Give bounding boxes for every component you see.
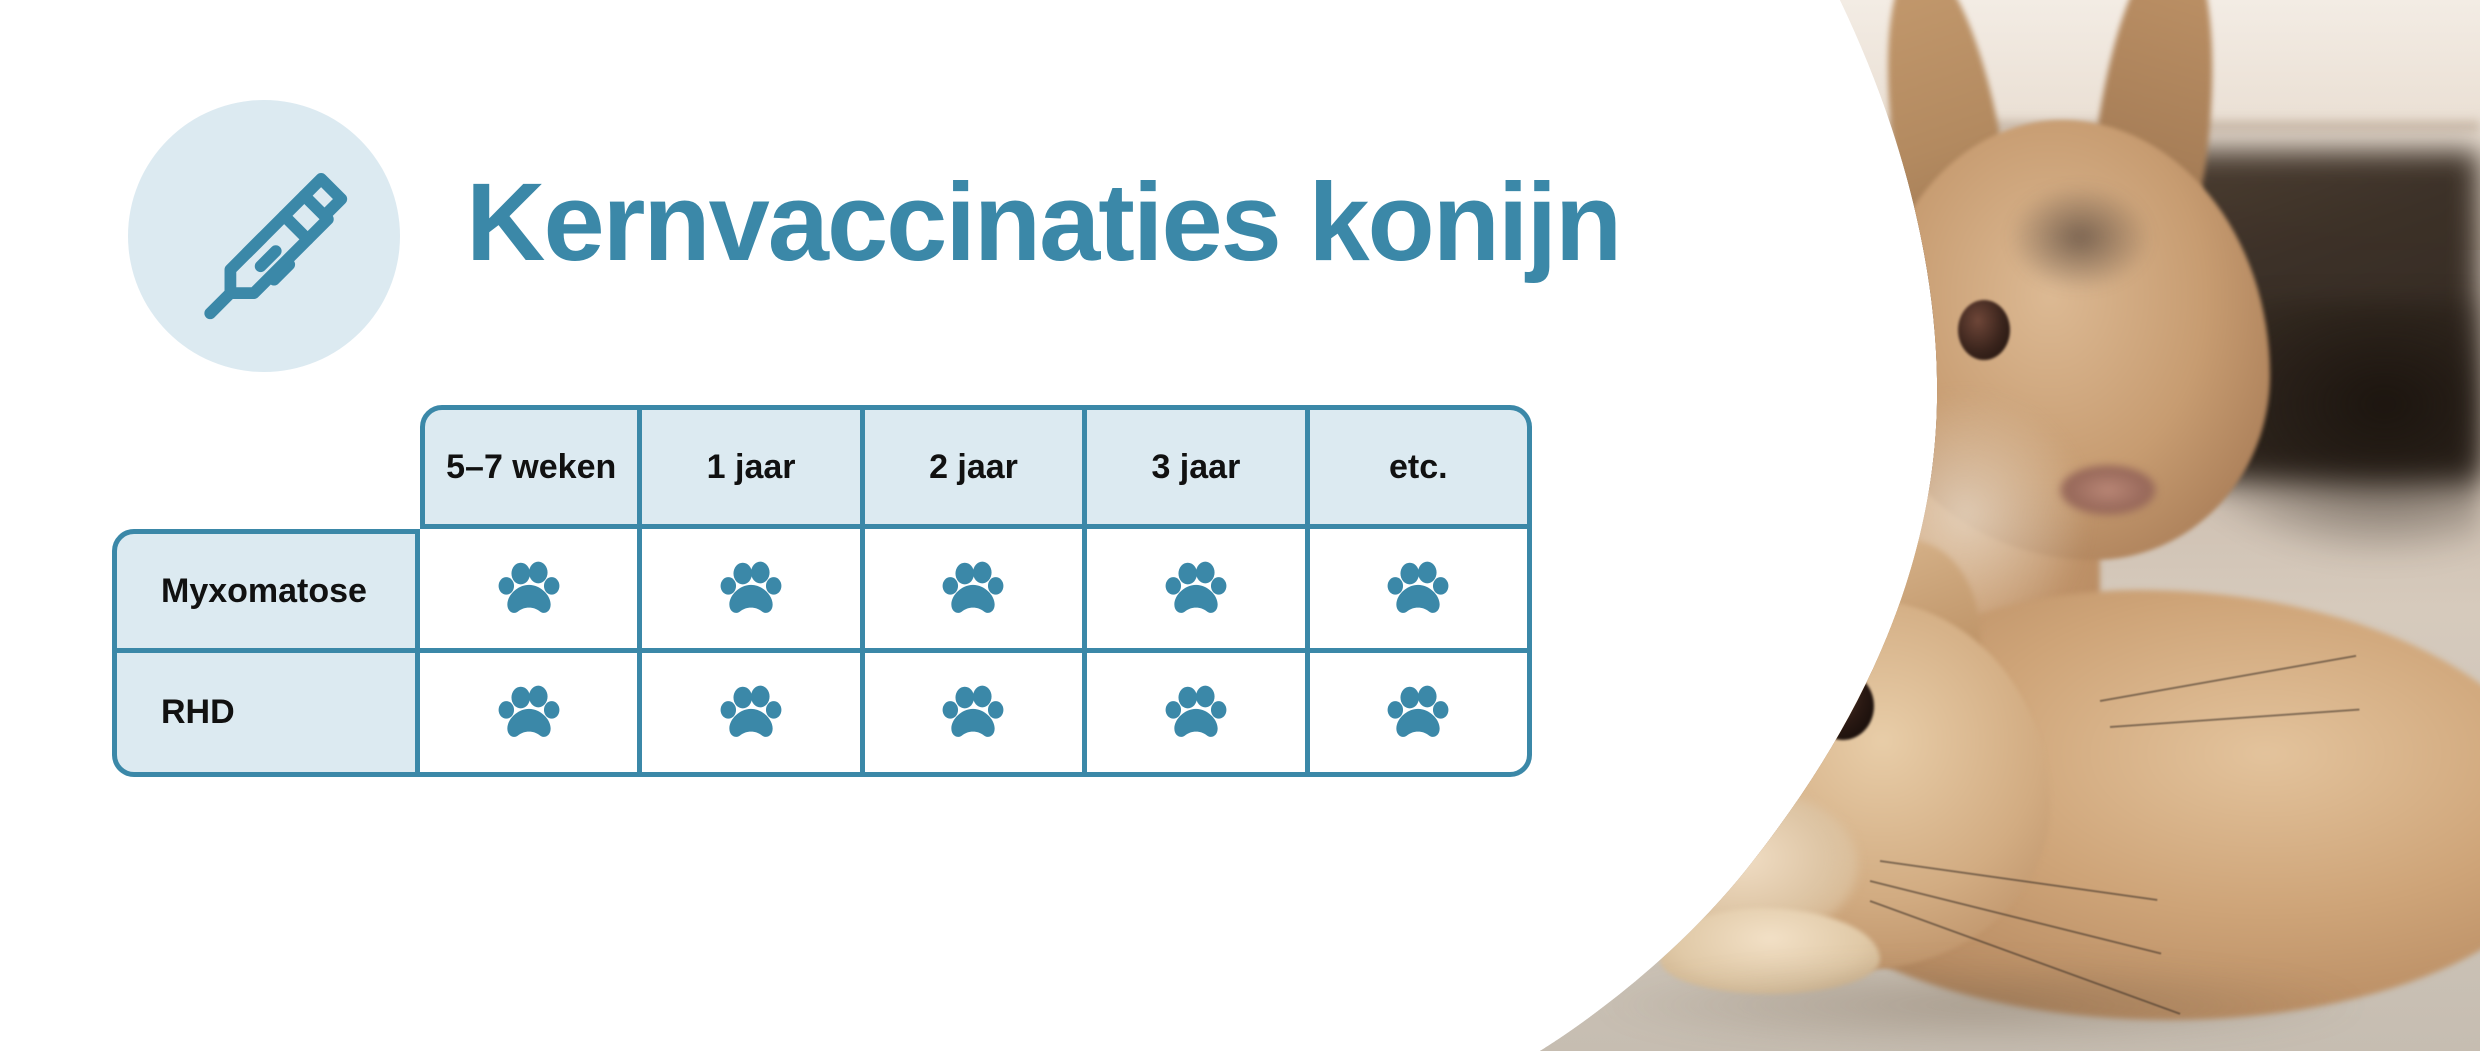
- paw-icon: [1163, 680, 1229, 746]
- upper-rabbit-eye: [1958, 300, 2010, 360]
- column-header-0: 5–7 weken: [420, 405, 642, 529]
- syringe-icon: [180, 152, 348, 320]
- upper-rabbit-nose: [2060, 465, 2156, 515]
- row-label-rhd: RHD: [112, 653, 420, 777]
- table-cell-rhd-0: [420, 653, 642, 777]
- table-cell-myxomatose-1: [642, 529, 864, 653]
- table-cell-myxomatose-0: [420, 529, 642, 653]
- paw-icon: [496, 556, 562, 622]
- table-cell-rhd-3: [1087, 653, 1309, 777]
- table-cell-myxomatose-3: [1087, 529, 1309, 653]
- upper-rabbit-forehead-marking: [2010, 185, 2150, 290]
- table-corner-blank: [112, 405, 420, 529]
- infographic-banner: Kernvaccinaties konijn 5–7 weken 1 jaar …: [0, 0, 2480, 1051]
- lower-rabbit-shadow: [1600, 960, 2360, 1050]
- table-cell-rhd-2: [865, 653, 1087, 777]
- table-cell-myxomatose-2: [865, 529, 1087, 653]
- lower-rabbit-nose: [1668, 840, 1726, 874]
- column-header-2: 2 jaar: [865, 405, 1087, 529]
- paw-icon: [1385, 556, 1451, 622]
- paw-icon: [1163, 556, 1229, 622]
- paw-icon: [718, 680, 784, 746]
- table-cell-rhd-1: [642, 653, 864, 777]
- table-cell-myxomatose-4: [1310, 529, 1532, 653]
- paw-icon: [496, 680, 562, 746]
- column-header-4: etc.: [1310, 405, 1532, 529]
- lower-rabbit-eye: [1812, 672, 1874, 740]
- rabbit-photo: [1540, 0, 2480, 1051]
- syringe-icon-badge: [128, 100, 400, 372]
- column-header-1: 1 jaar: [642, 405, 864, 529]
- paw-icon: [940, 680, 1006, 746]
- table-cell-rhd-4: [1310, 653, 1532, 777]
- lower-rabbit-eye-glint: [1826, 686, 1844, 700]
- column-header-3: 3 jaar: [1087, 405, 1309, 529]
- page-title: Kernvaccinaties konijn: [466, 168, 1620, 278]
- paw-icon: [1385, 680, 1451, 746]
- paw-icon: [940, 556, 1006, 622]
- row-label-myxomatose: Myxomatose: [112, 529, 420, 653]
- paw-icon: [718, 556, 784, 622]
- vaccination-schedule-table: 5–7 weken 1 jaar 2 jaar 3 jaar etc. Myxo…: [112, 405, 1532, 785]
